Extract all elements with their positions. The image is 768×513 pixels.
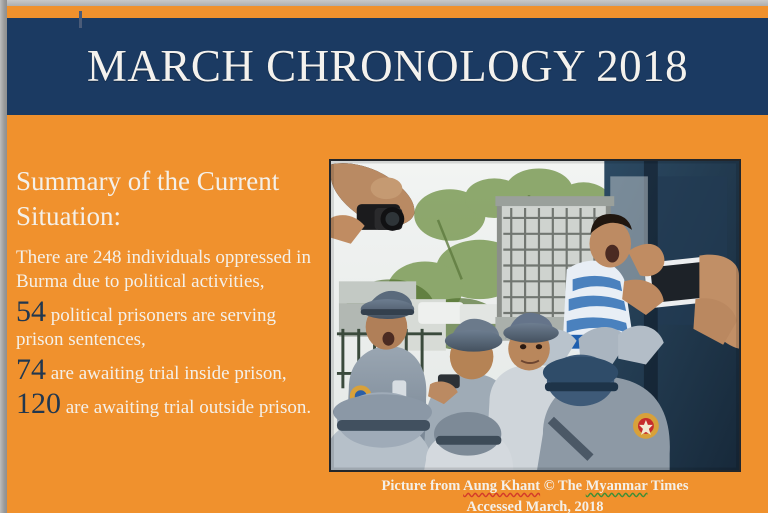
news-photograph[interactable] [329, 159, 741, 472]
stat-number-74: 74 [16, 353, 46, 386]
summary-paragraph-0: There are 248 individuals oppressed in B… [16, 246, 321, 294]
photograph-image [331, 161, 739, 470]
caption-source-name: Myanmar [586, 478, 648, 494]
paragraph-text-3: are awaiting trial outside prison. [61, 397, 311, 418]
presentation-slide-view: MARCH CHRONOLOGY 2018 Summary of the Cur… [0, 0, 768, 513]
caption-copyright: © The [540, 478, 586, 494]
slide-title: MARCH CHRONOLOGY 2018 [87, 44, 688, 89]
paragraph-text-2: are awaiting trial inside prison, [46, 363, 287, 384]
stat-number-54: 54 [16, 295, 46, 328]
caption-prefix: Picture from [382, 478, 464, 494]
paragraph-text-0: There are 248 individuals oppressed in B… [16, 247, 311, 292]
slide-canvas[interactable]: MARCH CHRONOLOGY 2018 Summary of the Cur… [7, 6, 768, 513]
caption-photographer-credit: Aung Khant [463, 478, 540, 494]
window-chrome-left [0, 0, 7, 513]
summary-paragraph-3: 120 are awaiting trial outside prison. [16, 389, 321, 420]
caption-line-1: Picture from Aung Khant © The Myanmar Ti… [329, 476, 741, 497]
summary-heading: Summary of the Current Situation: [16, 164, 321, 234]
paragraph-text-1: political prisoners are serving prison s… [16, 305, 276, 350]
summary-paragraph-2: 74 are awaiting trial inside prison, [16, 355, 321, 386]
caption-line-2: Accessed March, 2018 [329, 497, 741, 513]
stat-number-120: 120 [16, 387, 61, 420]
photo-caption: Picture from Aung Khant © The Myanmar Ti… [329, 476, 741, 513]
slide-title-banner[interactable]: MARCH CHRONOLOGY 2018 [7, 18, 768, 115]
caption-source-suffix: Times [648, 478, 689, 494]
summary-paragraph-1: 54 political prisoners are serving priso… [16, 297, 321, 352]
summary-text-block[interactable]: Summary of the Current Situation: There … [16, 164, 321, 423]
text-cursor-caret [79, 11, 82, 28]
